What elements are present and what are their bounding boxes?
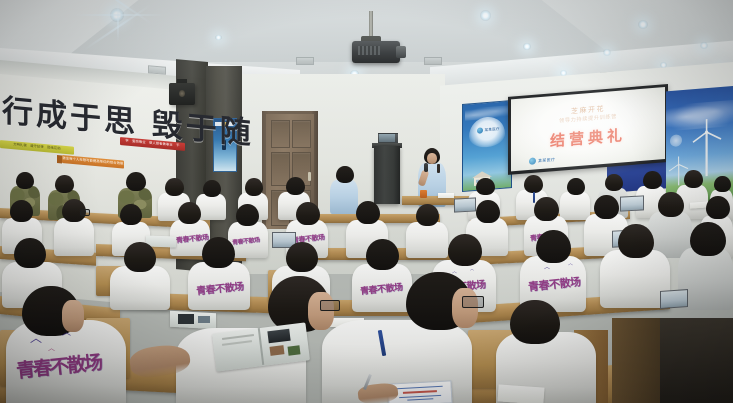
light-flare [117, 0, 119, 42]
ceiling-downlight [215, 35, 222, 40]
projection-screen: 芝麻开花 领导力持续提升训练营 结营典礼 某某医疗 [511, 87, 665, 171]
attendee-head [336, 166, 354, 183]
attendee-head [618, 224, 654, 258]
attendee-head [476, 200, 500, 223]
attendee-body-shirt [330, 180, 358, 214]
ceiling-downlight [523, 43, 531, 50]
attendee-body-white [110, 266, 170, 310]
desk-paper [497, 384, 544, 403]
attendee-head [120, 204, 142, 225]
ceiling-vent [296, 57, 314, 65]
attendee-head [203, 180, 221, 197]
presenter-hair-side [437, 164, 440, 173]
projector-vent [358, 46, 380, 55]
door-panel [271, 120, 290, 148]
booklet-photo [198, 316, 210, 323]
attendee-head [165, 178, 184, 196]
glasses-icon [80, 209, 90, 216]
glasses-icon [462, 296, 484, 308]
ceiling-downlight [700, 42, 708, 49]
booklet-photo [287, 345, 300, 355]
attendee-head [16, 172, 34, 189]
attendee-laptop[interactable] [660, 289, 688, 309]
attendee-body-white [188, 262, 250, 310]
attendee-head [366, 239, 399, 270]
attendee-head [706, 196, 730, 219]
foreground-attendee-face [308, 292, 334, 330]
attendee-head [534, 197, 559, 221]
attendee-body-white [352, 264, 412, 312]
attendee-head [10, 200, 33, 222]
attendee-head [126, 172, 146, 191]
ceiling-downlight [603, 49, 611, 56]
slide-logo-icon [529, 157, 536, 165]
ceiling-downlight [638, 20, 648, 29]
attendee-head [690, 222, 726, 256]
floor-shadow [660, 318, 733, 403]
attendee-head [202, 237, 235, 268]
foreground-attendee-face [452, 288, 478, 328]
door-panel [292, 120, 311, 148]
attendee-head [714, 176, 731, 192]
desk-side-panel [612, 318, 662, 403]
banner-logo-icon [477, 127, 483, 133]
attendee-laptop[interactable] [454, 197, 476, 212]
podium [374, 146, 400, 204]
projector-mount-pole [369, 11, 373, 39]
attendee-body-white [560, 192, 590, 220]
attendee-head [476, 178, 495, 195]
attendee-head [448, 234, 482, 266]
foreground-attendee-head [510, 300, 560, 344]
attendee-head [524, 175, 543, 193]
lecture-hall-photo: 行成于思 毁于随 文明礼貌 遵守纪律 团结互助 激发每个人无限可能提高单位的综合… [0, 0, 733, 403]
desk-paper [438, 193, 454, 198]
attendee-head [286, 177, 305, 195]
attendee-body-white [54, 218, 94, 256]
poster-emblem-icon [670, 134, 682, 147]
projector-lens [396, 46, 406, 58]
presenter-face [427, 153, 437, 164]
water-cup [420, 190, 427, 198]
attendee-head [178, 202, 201, 224]
attendee-head [236, 204, 259, 226]
banner-logo-text: 某某医疗 [485, 126, 500, 132]
ceiling-recess [60, 0, 620, 62]
attendee-head [356, 201, 380, 224]
attendee-head [658, 192, 684, 217]
attendee-head [55, 175, 74, 193]
attendee-head [605, 174, 623, 191]
attendee-head [296, 202, 320, 225]
booklet-photo [270, 345, 285, 356]
attendee-head [416, 204, 439, 226]
slide-logo-text: 某某医疗 [538, 156, 555, 163]
attendee-head [14, 238, 46, 268]
microphone-icon[interactable] [424, 163, 428, 172]
attendee-head [536, 230, 571, 263]
ceiling-downlight [480, 10, 491, 21]
podium-laptop-screen [379, 134, 395, 142]
door-handle[interactable] [308, 172, 311, 181]
attendee-head [594, 195, 619, 219]
attendee-head [684, 170, 703, 188]
ceiling-vent [424, 57, 442, 65]
slide-logo: 某某医疗 [529, 156, 555, 165]
speaker-cone-icon [179, 90, 185, 97]
attendee-head [245, 178, 263, 196]
booklet-photo [178, 314, 194, 324]
lanyard [533, 192, 535, 203]
attendee-head [567, 178, 585, 195]
attendee-laptop[interactable] [620, 195, 644, 211]
attendee-head [286, 242, 318, 272]
attendee-body-white [406, 222, 448, 258]
attendee-head [124, 242, 156, 272]
glasses-icon [320, 300, 340, 311]
attendee-head [643, 171, 662, 189]
